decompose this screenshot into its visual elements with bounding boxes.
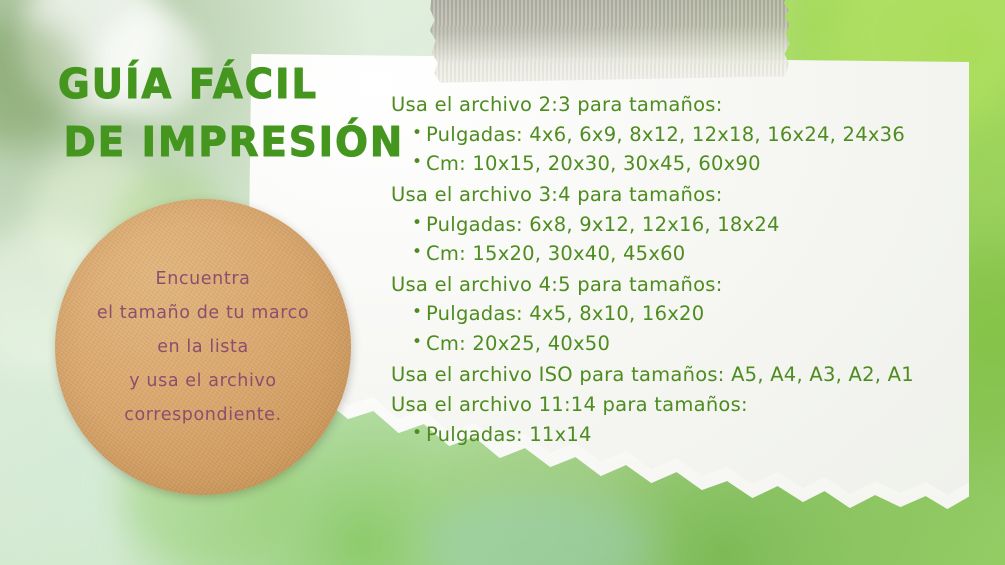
size-guide-list: Usa el archivo 2:3 para tamaños: • Pulga…: [391, 89, 971, 450]
bokeh-circle: [420, 492, 660, 565]
list-item-label: Cm: 15x20, 30x40, 45x60: [426, 239, 685, 269]
badge-text: Encuentra el tamaño de tu marco en la li…: [68, 262, 338, 433]
list-item: • Cm: 10x15, 20x30, 30x45, 60x90: [391, 149, 971, 179]
badge-line-3: en la lista: [68, 330, 338, 364]
bullet-icon: •: [412, 149, 426, 177]
list-item: • Pulgadas: 4x6, 6x9, 8x12, 12x18, 16x24…: [391, 120, 971, 150]
page-title: Guía fácil de impresión: [58, 55, 404, 171]
group-heading: Usa el archivo 2:3 para tamaños:: [391, 89, 971, 120]
badge-line-2: el tamaño de tu marco: [68, 296, 338, 330]
bullet-icon: •: [412, 299, 426, 327]
group-heading: Usa el archivo ISO para tamaños: A5, A4,…: [391, 359, 971, 390]
badge-line-5: correspondiente.: [68, 398, 338, 432]
bullet-icon: •: [412, 329, 426, 357]
title-line-2: de impresión: [64, 113, 405, 171]
list-item-label: Cm: 10x15, 20x30, 30x45, 60x90: [426, 149, 761, 179]
list-item: • Pulgadas: 4x5, 8x10, 16x20: [391, 299, 971, 329]
bullet-icon: •: [412, 420, 426, 448]
badge-line-1: Encuentra: [68, 262, 338, 296]
masking-tape-strip: [429, 0, 791, 84]
list-item-label: Pulgadas: 4x5, 8x10, 16x20: [426, 299, 704, 329]
list-item: • Pulgadas: 6x8, 9x12, 12x16, 18x24: [391, 210, 971, 240]
list-item-label: Pulgadas: 4x6, 6x9, 8x12, 12x18, 16x24, …: [426, 120, 905, 150]
list-item-label: Pulgadas: 11x14: [426, 420, 592, 450]
bullet-icon: •: [412, 210, 426, 238]
list-item: • Pulgadas: 11x14: [391, 420, 971, 450]
list-item: • Cm: 20x25, 40x50: [391, 329, 971, 359]
kraft-circle-badge: Encuentra el tamaño de tu marco en la li…: [55, 199, 351, 495]
group-heading: Usa el archivo 3:4 para tamaños:: [391, 179, 971, 210]
bullet-icon: •: [412, 239, 426, 267]
list-item: • Cm: 15x20, 30x40, 45x60: [391, 239, 971, 269]
list-item-label: Pulgadas: 6x8, 9x12, 12x16, 18x24: [426, 210, 780, 240]
bullet-icon: •: [412, 120, 426, 148]
group-heading: Usa el archivo 4:5 para tamaños:: [391, 269, 971, 300]
badge-line-4: y usa el archivo: [68, 364, 338, 398]
poster-canvas: Encuentra el tamaño de tu marco en la li…: [0, 0, 1005, 565]
group-heading: Usa el archivo 11:14 para tamaños:: [391, 389, 971, 420]
list-item-label: Cm: 20x25, 40x50: [426, 329, 610, 359]
title-line-1: Guía fácil: [58, 55, 404, 113]
